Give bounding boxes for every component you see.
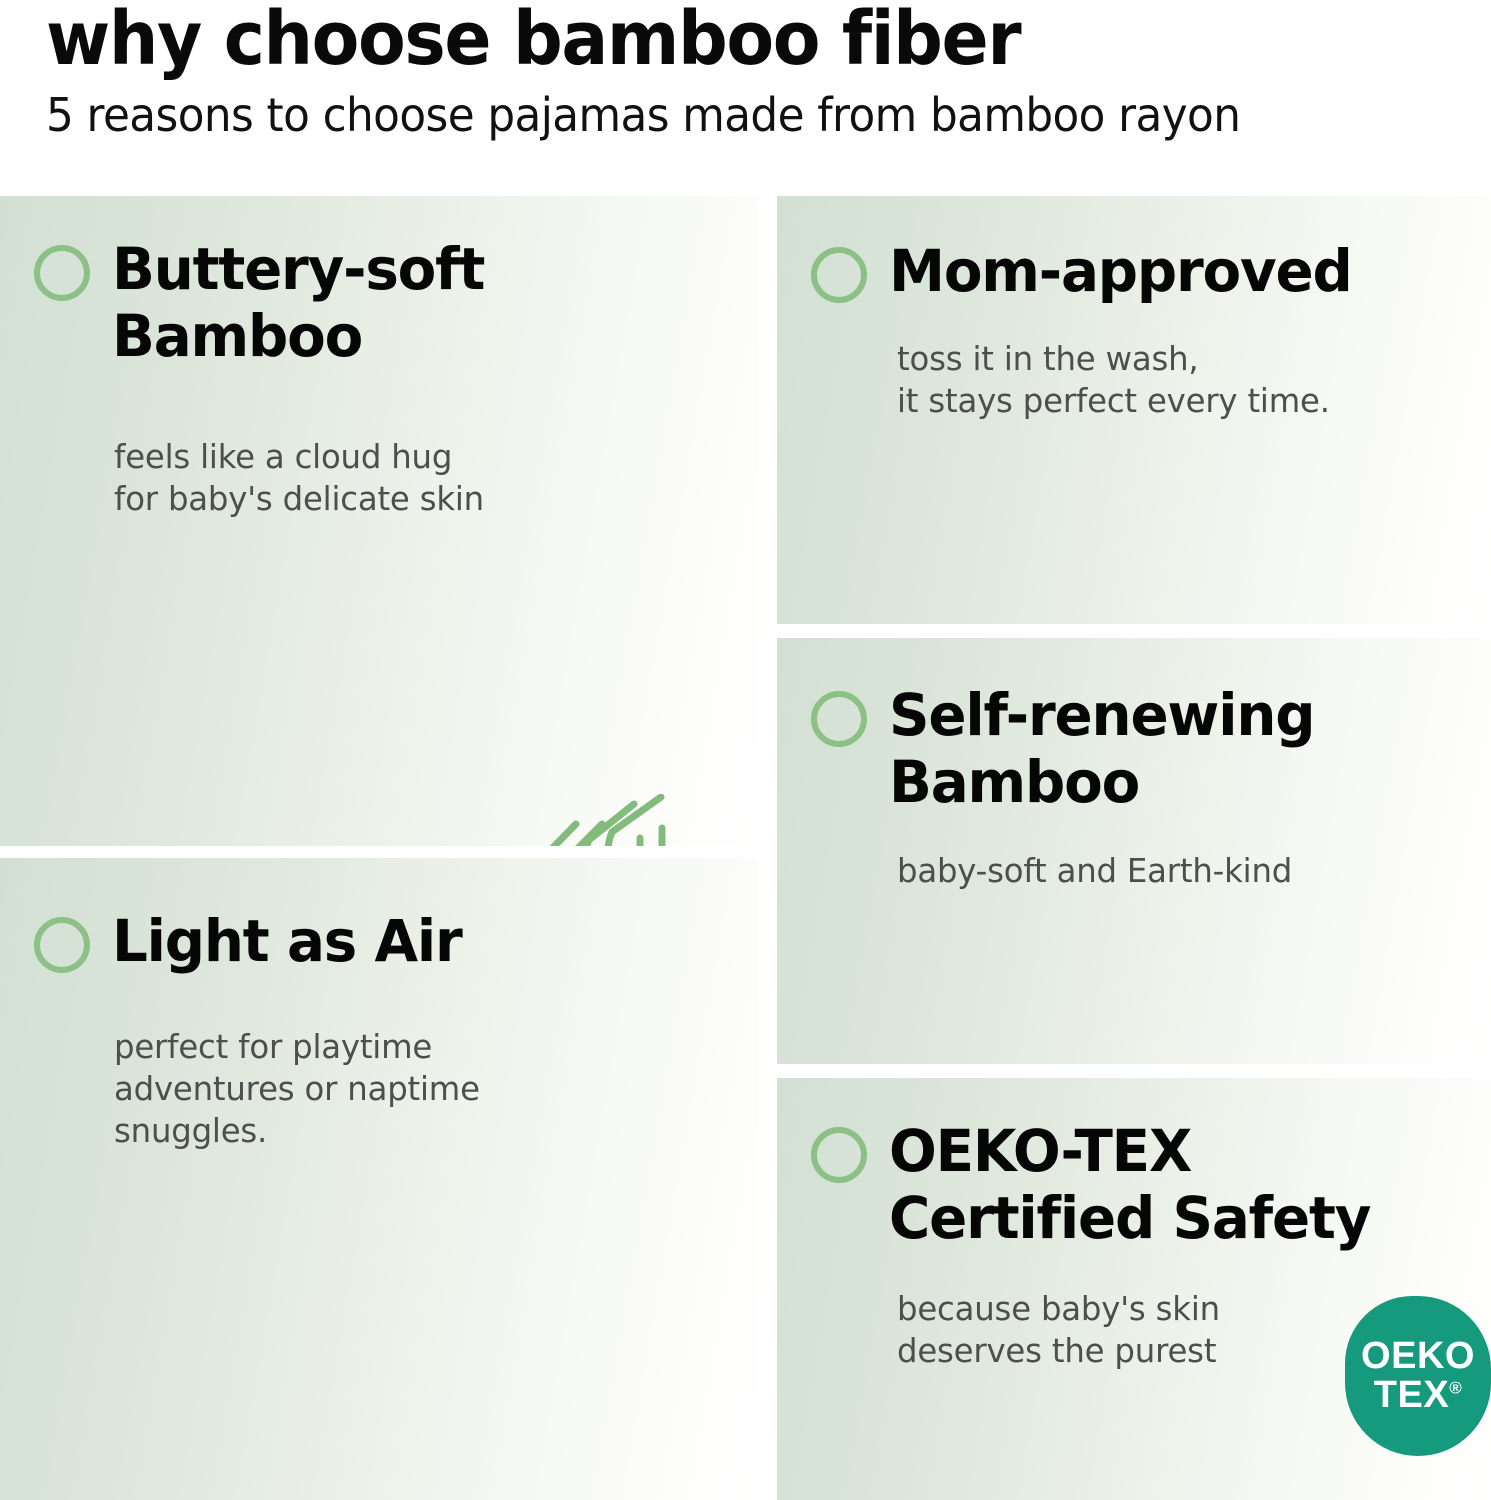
card-title: Self-renewing Bamboo — [889, 682, 1314, 817]
card-title: Light as Air — [112, 908, 462, 975]
circle-bullet-icon — [811, 691, 867, 747]
card-header: Buttery-soft Bamboo — [34, 236, 496, 371]
card-self-renewing-bamboo: Self-renewing Bamboo baby-soft and Earth… — [777, 638, 1491, 1064]
oeko-badge-line2-text: TEX — [1374, 1374, 1449, 1416]
oeko-badge-line1: OEKO — [1361, 1337, 1475, 1376]
card-buttery-soft-bamboo: Buttery-soft Bamboo feels like a cloud h… — [0, 196, 758, 846]
circle-bullet-icon — [34, 245, 90, 301]
card-header: Light as Air — [34, 908, 472, 975]
card-subtitle: baby-soft and Earth-kind — [897, 850, 1292, 892]
registered-mark: ® — [1449, 1378, 1462, 1397]
card-subtitle: toss it in the wash, it stays perfect ev… — [897, 338, 1330, 422]
card-subtitle: perfect for playtime adventures or napti… — [114, 1026, 480, 1153]
card-title: Mom-approved — [889, 238, 1352, 305]
card-title: OEKO-TEX Certified Safety — [889, 1118, 1370, 1253]
card-header: Self-renewing Bamboo — [811, 682, 1328, 817]
circle-bullet-icon — [34, 917, 90, 973]
oeko-tex-badge: OEKO TEX® — [1345, 1296, 1491, 1456]
circle-bullet-icon — [811, 1127, 867, 1183]
page-subtitle: 5 reasons to choose pajamas made from ba… — [46, 90, 1240, 141]
page-title: why choose bamboo fiber — [46, 2, 1020, 76]
card-mom-approved: Mom-approved toss it in the wash, it sta… — [777, 196, 1491, 624]
card-subtitle: because baby's skin deserves the purest — [897, 1288, 1220, 1372]
card-header: Mom-approved — [811, 238, 1366, 305]
header: why choose bamboo fiber 5 reasons to cho… — [0, 0, 1491, 196]
hand-touch-fabric-icon — [494, 794, 744, 846]
circle-bullet-icon — [811, 247, 867, 303]
infographic-page: why choose bamboo fiber 5 reasons to cho… — [0, 0, 1491, 1500]
card-header: OEKO-TEX Certified Safety — [811, 1118, 1385, 1253]
card-title: Buttery-soft Bamboo — [112, 236, 484, 371]
card-light-as-air: Light as Air perfect for playtime advent… — [0, 858, 758, 1500]
card-subtitle: feels like a cloud hug for baby's delica… — [114, 436, 484, 520]
oeko-badge-line2: TEX® — [1374, 1376, 1462, 1415]
